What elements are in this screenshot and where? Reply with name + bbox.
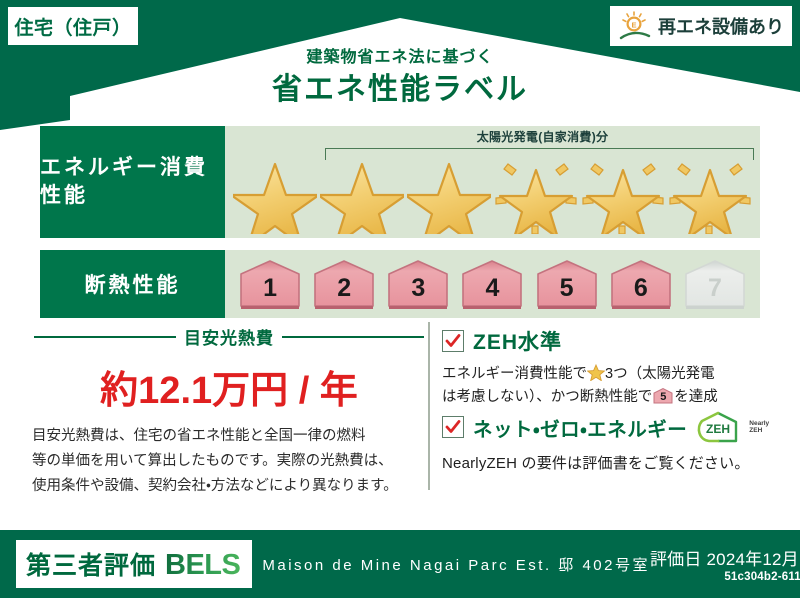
footer-bar: 第三者評価 BELS Maison de Mine Nagai Parc Est… bbox=[0, 530, 800, 598]
star-5-solar bbox=[581, 156, 665, 234]
zeh-logo-sub-line1: Nearly bbox=[749, 420, 769, 427]
gold-star-icon bbox=[320, 156, 404, 234]
evaluation-date: 評価日 2024年12月12日 bbox=[650, 545, 800, 570]
evaluation-id: 51c304b2-6114-4af6 bbox=[650, 571, 800, 583]
net-zero-energy-description: NearlyZEH の要件は評価書をご覧ください。 bbox=[442, 452, 776, 473]
insulation-level-5: 5 bbox=[534, 258, 600, 310]
red-check-icon bbox=[445, 333, 461, 349]
star-1 bbox=[233, 156, 317, 234]
zeh-standard-description: エネルギー消費性能で3つ（太陽光発電 は考慮しない）、かつ断熱性能で5を達成 bbox=[442, 363, 772, 410]
star-6-solar bbox=[668, 156, 752, 234]
energy-performance-row: エネルギー消費性能 太陽光発電(自家消費)分 bbox=[40, 126, 760, 238]
badge-renewable-label: 再エネ設備あり bbox=[658, 13, 784, 39]
insulation-performance-row: 断熱性能 bbox=[40, 250, 760, 318]
insulation-level-2: 2 bbox=[311, 258, 377, 310]
zeh-logo-sub-line2: ZEH bbox=[749, 427, 762, 434]
insulation-level-4: 4 bbox=[459, 258, 525, 310]
badge-housing-type-label: 住宅（住戸） bbox=[14, 13, 131, 40]
svg-text:ZEH: ZEH bbox=[706, 422, 730, 436]
gold-star-icon bbox=[587, 364, 605, 381]
net-zero-energy-title: ネット・ゼロ・エネルギー bbox=[473, 413, 687, 442]
star-rating bbox=[225, 156, 760, 234]
insulation-level-4-number: 4 bbox=[459, 258, 525, 310]
badge-housing-type: 住宅（住戸） bbox=[8, 7, 138, 45]
zeh-standard-heading-row: ZEH水準 bbox=[442, 326, 772, 356]
building-name: Maison de Mine Nagai Parc Est. 邸 402号室 bbox=[262, 554, 650, 575]
gold-star-with-rays-icon bbox=[668, 156, 752, 234]
insulation-level-7-number: 7 bbox=[682, 258, 748, 310]
page-title: 省エネ性能ラベル bbox=[0, 71, 800, 109]
utility-cost-note: 目安光熱費は、住宅の省エネ性能と全国一律の燃料 等の単価を用いて算出したものです… bbox=[32, 424, 424, 499]
utility-cost-block: 目安光熱費 約12.1万円 / 年 bbox=[34, 324, 424, 414]
utility-cost-note-line-3: 使用条件や設備、契約会社・方法などにより異なります。 bbox=[32, 474, 424, 499]
solar-sun-icon: E bbox=[618, 11, 652, 41]
rule-right bbox=[282, 336, 424, 338]
utility-cost-note-line-1: 目安光熱費は、住宅の省エネ性能と全国一律の燃料 bbox=[32, 424, 424, 449]
insulation-level-3-number: 3 bbox=[385, 258, 451, 310]
gold-star-icon bbox=[407, 156, 491, 234]
insulation-level-1: 1 bbox=[237, 258, 303, 310]
star-2 bbox=[320, 156, 404, 234]
zeh-standard-block: ZEH水準 エネルギー消費性能で3つ（太陽光発電 は考慮しない）、かつ断熱性能で… bbox=[442, 326, 772, 410]
zeh-desc-line2-post: を達成 bbox=[674, 389, 718, 405]
zeh-house-logo-icon: ZEH bbox=[696, 410, 742, 444]
header: 建築物省エネ法に基づく 省エネ性能ラベル bbox=[0, 48, 800, 108]
energy-performance-body: 太陽光発電(自家消費)分 bbox=[225, 126, 760, 238]
zeh-desc-mid: 3つ（太陽光発電 bbox=[605, 366, 715, 382]
gold-star-icon bbox=[233, 156, 317, 234]
bels-badge: 第三者評価 BELS bbox=[16, 540, 252, 588]
zeh-standard-title: ZEH水準 bbox=[473, 326, 562, 356]
zeh-logo-subtext: Nearly ZEH bbox=[749, 420, 769, 435]
insulation-level-2-number: 2 bbox=[311, 258, 377, 310]
star-3 bbox=[407, 156, 491, 234]
rule-left bbox=[34, 336, 176, 338]
insulation-level-7: 7 bbox=[682, 258, 748, 310]
header-subtitle: 建築物省エネ法に基づく bbox=[0, 48, 800, 69]
badge-renewable-equipment: E 再エネ設備あり bbox=[610, 6, 792, 46]
energy-performance-label: エネルギー消費性能 bbox=[40, 126, 225, 238]
bels-badge-jp: 第三者評価 bbox=[26, 546, 156, 582]
insulation-performance-body: 1 2 3 bbox=[225, 250, 760, 318]
house-badge-icon: 5 bbox=[652, 387, 674, 405]
insulation-performance-label: 断熱性能 bbox=[40, 250, 225, 318]
utility-cost-value: 約12.1万円 / 年 bbox=[34, 359, 424, 414]
net-zero-energy-heading-row: ネット・ゼロ・エネルギー ZEH Nearly ZEH bbox=[442, 410, 776, 444]
evaluation-info: 評価日 2024年12月12日 51c304b2-6114-4af6 bbox=[650, 545, 800, 583]
net-zero-energy-checkbox[interactable] bbox=[442, 416, 464, 438]
red-check-icon bbox=[445, 419, 461, 435]
utility-cost-heading: 目安光熱費 bbox=[184, 324, 274, 349]
bels-badge-en: BELS bbox=[165, 549, 240, 582]
insulation-level-5-number: 5 bbox=[534, 258, 600, 310]
vertical-divider bbox=[428, 322, 430, 490]
zeh-desc-pre: エネルギー消費性能で bbox=[442, 366, 587, 382]
insulation-level-scale: 1 2 3 bbox=[225, 250, 760, 318]
insulation-level-6: 6 bbox=[608, 258, 674, 310]
energy-performance-label: 住宅（住戸） E 再エネ設備あり 建築物省エネ法に基づく 省エネ性能ラベル bbox=[0, 0, 800, 598]
zeh-desc-line2-pre: は考慮しない）、かつ断熱性能で bbox=[442, 389, 652, 405]
gold-star-with-rays-icon bbox=[581, 156, 665, 234]
utility-cost-note-line-2: 等の単価を用いて算出したものです。実際の光熱費は、 bbox=[32, 449, 424, 474]
zeh-desc-house-value: 5 bbox=[652, 387, 674, 405]
insulation-level-1-number: 1 bbox=[237, 258, 303, 310]
svg-text:E: E bbox=[631, 20, 636, 29]
utility-cost-heading-row: 目安光熱費 bbox=[34, 324, 424, 349]
star-4-solar bbox=[494, 156, 578, 234]
net-zero-energy-block: ネット・ゼロ・エネルギー ZEH Nearly ZEH NearlyZEH の要… bbox=[442, 410, 776, 473]
insulation-level-3: 3 bbox=[385, 258, 451, 310]
solar-bracket-caption: 太陽光発電(自家消費)分 bbox=[325, 128, 760, 145]
zeh-standard-checkbox[interactable] bbox=[442, 330, 464, 352]
insulation-level-6-number: 6 bbox=[608, 258, 674, 310]
gold-star-with-rays-icon bbox=[494, 156, 578, 234]
